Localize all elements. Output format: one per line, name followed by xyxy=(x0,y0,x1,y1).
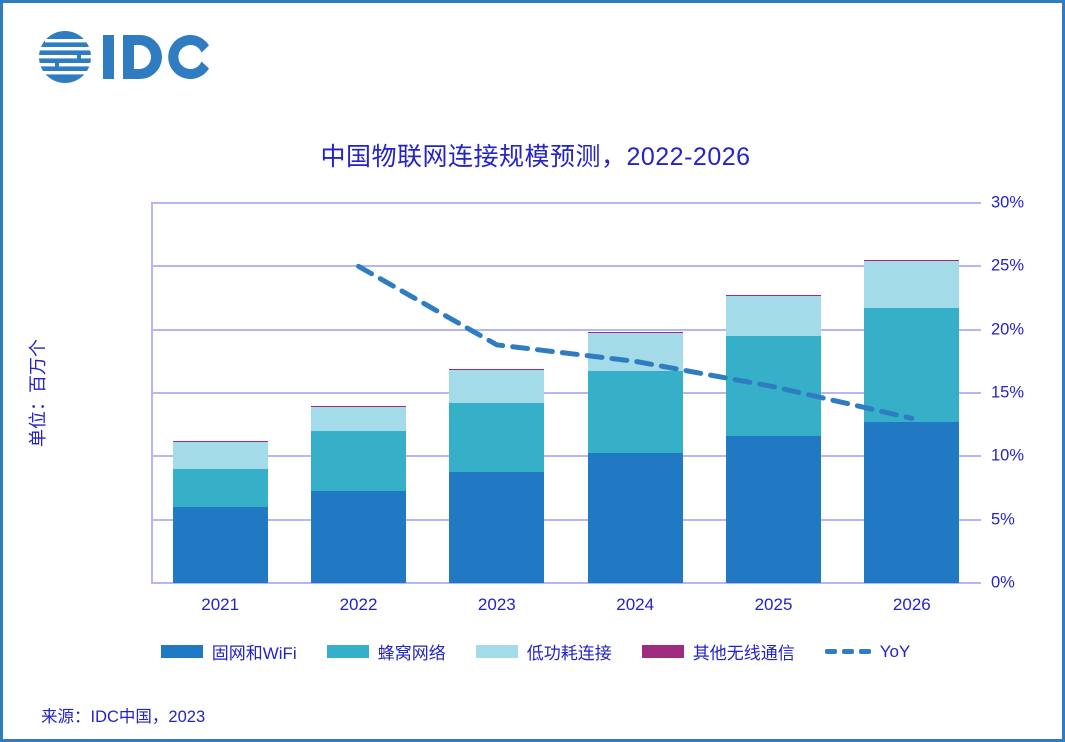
page-title: 中国物联网连接规模预测，2022-2026 xyxy=(3,137,1065,173)
legend-dash-icon xyxy=(825,645,871,658)
legend-label: 蜂窝网络 xyxy=(378,639,446,664)
bar-segment xyxy=(449,472,544,583)
x-axis-tick-label: 2026 xyxy=(842,595,982,615)
legend-item[interactable]: 蜂窝网络 xyxy=(327,639,446,664)
bar-segment xyxy=(311,406,406,407)
y2-axis-tick-label: 20% xyxy=(991,320,1061,339)
y2-axis-tick-label: 5% xyxy=(991,510,1061,529)
legend-swatch xyxy=(327,645,369,658)
y2-axis-tick-label: 15% xyxy=(991,384,1061,403)
x-axis-tick-label: 2025 xyxy=(704,595,844,615)
bar-2022 xyxy=(311,406,406,583)
bar-segment xyxy=(588,333,683,370)
bar-segment xyxy=(864,422,959,584)
bar-segment xyxy=(726,436,821,583)
gridline xyxy=(151,265,981,267)
bar-segment xyxy=(173,441,268,469)
y-axis-ticks: 02,0004,0006,0008,00010,00012,0000%5%10%… xyxy=(3,203,4,583)
x-axis-tick-label: 2024 xyxy=(565,595,705,615)
legend-item[interactable]: 其他无线通信 xyxy=(642,639,795,664)
bar-2021 xyxy=(173,441,268,584)
gridline xyxy=(151,582,981,584)
bar-2023 xyxy=(449,369,544,583)
legend-label: 固网和WiFi xyxy=(212,639,297,664)
gridline xyxy=(151,455,981,457)
legend-swatch xyxy=(161,645,203,658)
legend-label: YoY xyxy=(880,642,911,662)
idc-logo xyxy=(37,29,237,85)
legend-label: 其他无线通信 xyxy=(693,639,795,664)
legend-item[interactable]: 固网和WiFi xyxy=(161,639,297,664)
bar-segment xyxy=(864,260,959,261)
bar-segment xyxy=(726,295,821,296)
bar-segment xyxy=(311,431,406,491)
legend-item[interactable]: YoY xyxy=(825,642,911,662)
bar-segment xyxy=(173,441,268,442)
legend-swatch xyxy=(642,645,684,658)
bar-segment xyxy=(588,371,683,453)
bar-segment xyxy=(173,469,268,507)
chart-frame: 中国物联网连接规模预测，2022-2026 单位：百万个 02,0004,000… xyxy=(0,0,1065,742)
legend-label: 低功耗连接 xyxy=(527,639,612,664)
source-note: 来源：IDC中国，2023 xyxy=(41,703,205,727)
bar-segment xyxy=(588,332,683,333)
chart-legend: 固网和WiFi蜂窝网络低功耗连接其他无线通信YoY xyxy=(3,639,1065,664)
x-axis-tick-label: 2023 xyxy=(427,595,567,615)
y2-axis-tick-label: 10% xyxy=(991,447,1061,466)
bar-segment xyxy=(311,491,406,583)
y-axis-title: 单位：百万个 xyxy=(24,339,50,447)
x-axis-tick-label: 2022 xyxy=(289,595,429,615)
bar-segment xyxy=(588,453,683,583)
bar-2026 xyxy=(864,260,959,583)
gridline xyxy=(151,202,981,204)
bar-segment xyxy=(311,406,406,431)
x-axis-tick-label: 2021 xyxy=(150,595,290,615)
plot-area xyxy=(151,203,981,583)
bar-2025 xyxy=(726,295,821,583)
legend-swatch xyxy=(476,645,518,658)
y2-axis-tick-label: 30% xyxy=(991,194,1061,213)
legend-item[interactable]: 低功耗连接 xyxy=(476,639,612,664)
gridline xyxy=(151,392,981,394)
bar-segment xyxy=(449,370,544,402)
y2-axis-tick-label: 25% xyxy=(991,257,1061,276)
bar-segment xyxy=(449,403,544,473)
gridline xyxy=(151,329,981,331)
y2-axis-tick-label: 0% xyxy=(991,574,1061,593)
bar-segment xyxy=(173,507,268,583)
bar-segment xyxy=(726,336,821,436)
bar-segment xyxy=(449,369,544,370)
bar-segment xyxy=(864,308,959,422)
gridline xyxy=(151,519,981,521)
bar-2024 xyxy=(588,332,683,583)
bar-segment xyxy=(864,261,959,308)
bar-segment xyxy=(726,295,821,336)
